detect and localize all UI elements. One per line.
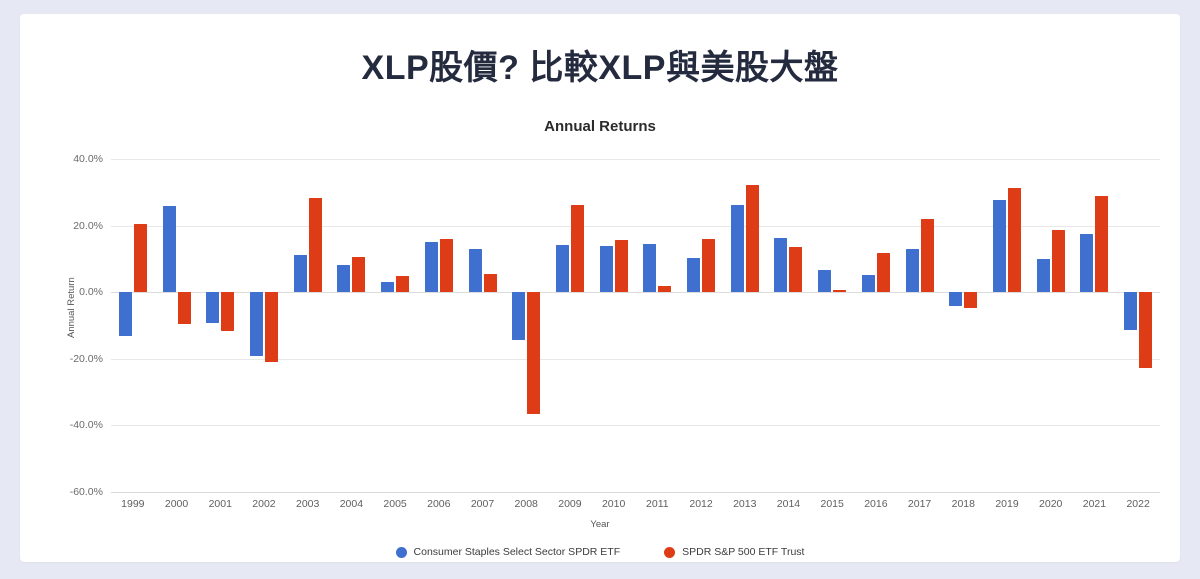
bar[interactable] xyxy=(556,245,569,292)
x-tick-label: 2020 xyxy=(1029,498,1073,510)
bar-group xyxy=(1073,159,1117,492)
bar-group xyxy=(373,159,417,492)
bar[interactable] xyxy=(833,290,846,292)
chart-legend: Consumer Staples Select Sector SPDR ETFS… xyxy=(20,546,1180,558)
page-title: XLP股價? 比較XLP與美股大盤 xyxy=(20,40,1180,89)
bar-group xyxy=(1029,159,1073,492)
bar-group xyxy=(155,159,199,492)
y-tick-label: -20.0% xyxy=(33,353,103,365)
bar-group xyxy=(198,159,242,492)
red-dot-icon xyxy=(664,547,675,558)
bar[interactable] xyxy=(469,249,482,292)
bar[interactable] xyxy=(250,292,263,356)
y-tick-label: -40.0% xyxy=(33,419,103,431)
bar-group xyxy=(636,159,680,492)
bar[interactable] xyxy=(294,255,307,292)
bar[interactable] xyxy=(658,286,671,293)
bar-group xyxy=(723,159,767,492)
bar[interactable] xyxy=(1037,259,1050,292)
bar-group xyxy=(941,159,985,492)
bar[interactable] xyxy=(789,247,802,292)
bar[interactable] xyxy=(206,292,219,323)
bar[interactable] xyxy=(337,265,350,292)
bar-group xyxy=(461,159,505,492)
bar[interactable] xyxy=(1052,230,1065,292)
x-tick-label: 2010 xyxy=(592,498,636,510)
bar[interactable] xyxy=(163,206,176,293)
x-tick-label: 1999 xyxy=(111,498,155,510)
x-tick-label: 2016 xyxy=(854,498,898,510)
y-tick-label: 20.0% xyxy=(33,220,103,232)
bar[interactable] xyxy=(484,274,497,292)
chart-card: XLP股價? 比較XLP與美股大盤 Annual Returns Annual … xyxy=(20,14,1180,562)
bar[interactable] xyxy=(1124,292,1137,330)
bar[interactable] xyxy=(818,270,831,292)
x-tick-label: 2001 xyxy=(198,498,242,510)
x-axis-line xyxy=(111,492,1160,493)
bar[interactable] xyxy=(1008,188,1021,292)
bar[interactable] xyxy=(964,292,977,307)
bar-group xyxy=(854,159,898,492)
legend-label: SPDR S&P 500 ETF Trust xyxy=(682,546,804,558)
chart-title: Annual Returns xyxy=(20,118,1180,135)
bar[interactable] xyxy=(527,292,540,414)
bar[interactable] xyxy=(702,239,715,292)
bar-group xyxy=(985,159,1029,492)
x-tick-label: 2000 xyxy=(155,498,199,510)
bar[interactable] xyxy=(687,258,700,292)
x-tick-label: 2011 xyxy=(635,498,679,510)
bar[interactable] xyxy=(221,292,234,331)
bar[interactable] xyxy=(862,275,875,292)
bar[interactable] xyxy=(1095,196,1108,293)
bar[interactable] xyxy=(381,282,394,292)
bar-group xyxy=(111,159,155,492)
x-axis-label: Year xyxy=(20,519,1180,530)
x-tick-label: 2002 xyxy=(242,498,286,510)
bar-group xyxy=(504,159,548,492)
bar[interactable] xyxy=(571,205,584,292)
x-tick-label: 2018 xyxy=(941,498,985,510)
bar-group xyxy=(810,159,854,492)
bar[interactable] xyxy=(352,257,365,292)
bar-group xyxy=(1116,159,1160,492)
x-tick-label: 2006 xyxy=(417,498,461,510)
bar-group xyxy=(548,159,592,492)
annual-returns-chart: Annual Returns Annual Return 40.0%20.0%0… xyxy=(20,98,1180,562)
bar[interactable] xyxy=(949,292,962,306)
x-tick-label: 2019 xyxy=(985,498,1029,510)
bar[interactable] xyxy=(512,292,525,340)
bar-group xyxy=(767,159,811,492)
bar[interactable] xyxy=(643,244,656,292)
legend-label: Consumer Staples Select Sector SPDR ETF xyxy=(414,546,621,558)
x-tick-label: 2005 xyxy=(373,498,417,510)
bar-group xyxy=(242,159,286,492)
bar-group xyxy=(592,159,636,492)
bar[interactable] xyxy=(119,292,132,336)
bar[interactable] xyxy=(615,240,628,292)
bar[interactable] xyxy=(731,205,744,292)
bar-group xyxy=(330,159,374,492)
blue-dot-icon xyxy=(396,547,407,558)
bar[interactable] xyxy=(746,185,759,293)
y-tick-label: 40.0% xyxy=(33,153,103,165)
bar-group xyxy=(417,159,461,492)
bar[interactable] xyxy=(265,292,278,362)
y-tick-label: -60.0% xyxy=(33,486,103,498)
bar[interactable] xyxy=(134,224,147,292)
bar[interactable] xyxy=(440,239,453,292)
x-tick-label: 2004 xyxy=(329,498,373,510)
bar-group xyxy=(286,159,330,492)
plot-area: 40.0%20.0%0.0%-20.0%-40.0%-60.0% xyxy=(111,159,1180,492)
bar[interactable] xyxy=(774,238,787,292)
x-tick-label: 2015 xyxy=(810,498,854,510)
bar[interactable] xyxy=(1080,234,1093,293)
x-tick-label: 2017 xyxy=(898,498,942,510)
bar-group xyxy=(679,159,723,492)
bar[interactable] xyxy=(1139,292,1152,368)
bar-group xyxy=(898,159,942,492)
x-tick-label: 2007 xyxy=(461,498,505,510)
x-tick-label: 2003 xyxy=(286,498,330,510)
x-tick-label: 2013 xyxy=(723,498,767,510)
bar[interactable] xyxy=(309,198,322,292)
x-tick-label: 2022 xyxy=(1116,498,1160,510)
bar[interactable] xyxy=(993,200,1006,292)
x-tick-label: 2014 xyxy=(766,498,810,510)
bar[interactable] xyxy=(921,219,934,292)
x-tick-label: 2009 xyxy=(548,498,592,510)
bar[interactable] xyxy=(877,253,890,293)
x-tick-label: 2012 xyxy=(679,498,723,510)
legend-item[interactable]: SPDR S&P 500 ETF Trust xyxy=(664,546,804,558)
legend-item[interactable]: Consumer Staples Select Sector SPDR ETF xyxy=(396,546,621,558)
x-tick-label: 2008 xyxy=(504,498,548,510)
x-tick-label: 2021 xyxy=(1072,498,1116,510)
bar[interactable] xyxy=(396,276,409,292)
y-tick-label: 0.0% xyxy=(33,286,103,298)
bar[interactable] xyxy=(906,249,919,292)
bar[interactable] xyxy=(178,292,191,324)
bar[interactable] xyxy=(600,246,613,292)
bar[interactable] xyxy=(425,242,438,292)
